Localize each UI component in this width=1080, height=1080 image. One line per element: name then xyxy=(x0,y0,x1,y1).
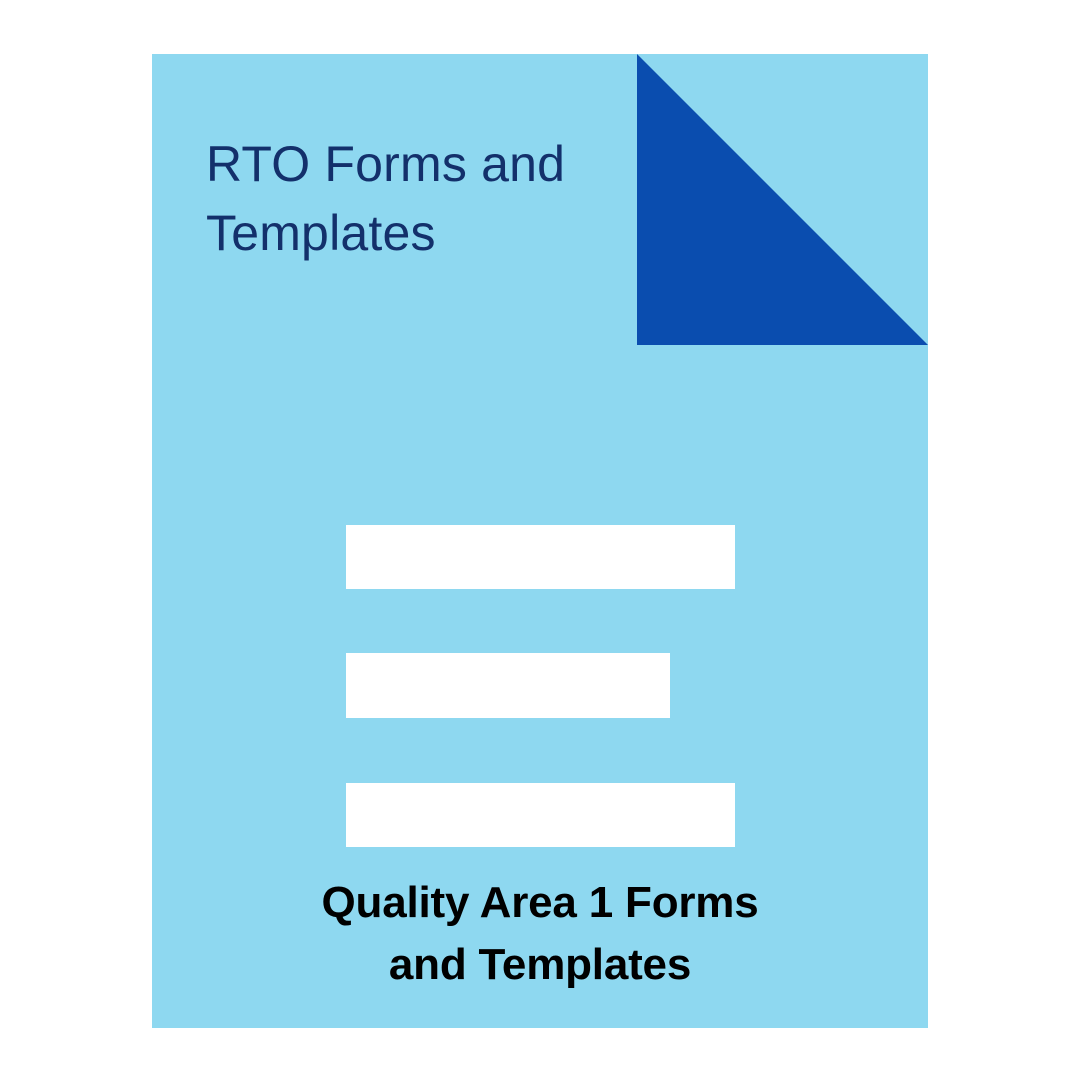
document-card[interactable]: RTO Forms and Templates Quality Area 1 F… xyxy=(152,54,928,1028)
document-line-2 xyxy=(346,653,670,718)
document-line-3 xyxy=(346,783,735,847)
canvas: RTO Forms and Templates Quality Area 1 F… xyxy=(0,0,1080,1080)
document-caption: Quality Area 1 Forms and Templates xyxy=(152,872,928,997)
document-line-1 xyxy=(346,525,735,589)
